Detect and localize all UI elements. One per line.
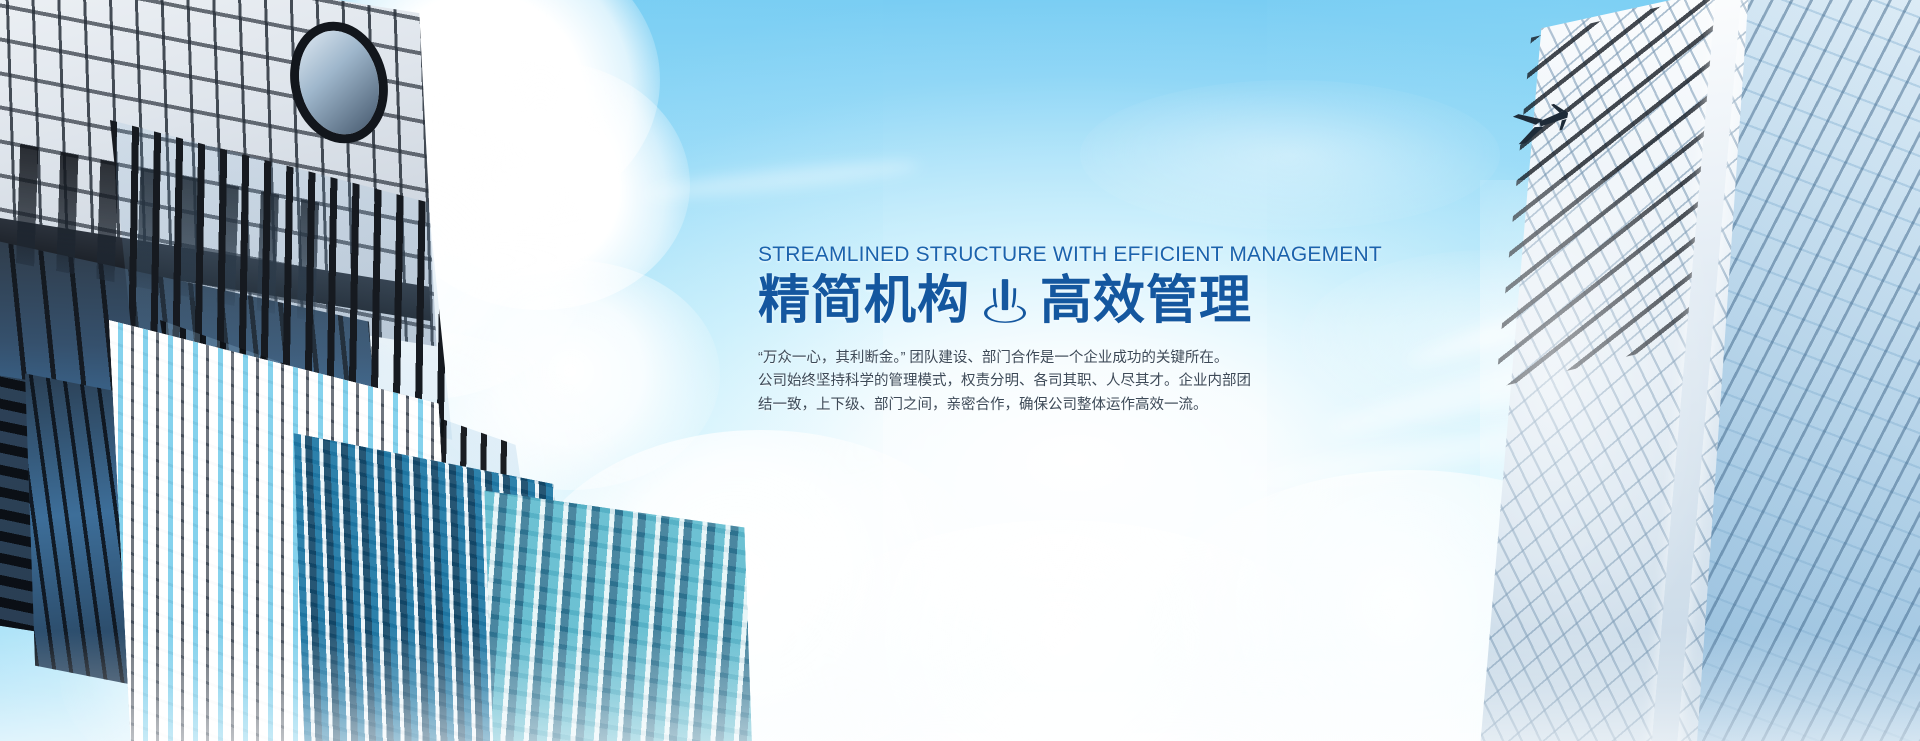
headline-right-text: 高效管理	[1040, 271, 1252, 331]
banner-eyebrow-english: STREAMLINED STRUCTURE WITH EFFICIENT MAN…	[758, 243, 1378, 267]
company-swoosh-logo-mark-icon	[982, 275, 1028, 327]
corporate-hero-banner: STREAMLINED STRUCTURE WITH EFFICIENT MAN…	[0, 0, 1920, 741]
headline-left-text: 精简机构	[758, 271, 970, 331]
left-city-cluster	[0, 390, 610, 741]
right-glass-skyscraper	[1420, 0, 1920, 741]
teal-glass-tower	[484, 491, 755, 741]
description-line: “万众一心，其利断金。” 团队建设、部门合作是一个企业成功的关键所在。	[758, 347, 1303, 370]
banner-description: “万众一心，其利断金。” 团队建设、部门合作是一个企业成功的关键所在。 公司始终…	[758, 347, 1303, 417]
tower-highlight-glow	[1480, 180, 1720, 680]
banner-headline: 精简机构 高效管理	[758, 271, 1378, 331]
banner-text-block: STREAMLINED STRUCTURE WITH EFFICIENT MAN…	[758, 243, 1378, 417]
description-line: 结一致，上下级、部门之间，亲密合作，确保公司整体运作高效一流。	[758, 394, 1303, 417]
description-line: 公司始终坚持科学的管理模式，权责分明、各司其职、人尽其才。企业内部团	[758, 370, 1303, 393]
